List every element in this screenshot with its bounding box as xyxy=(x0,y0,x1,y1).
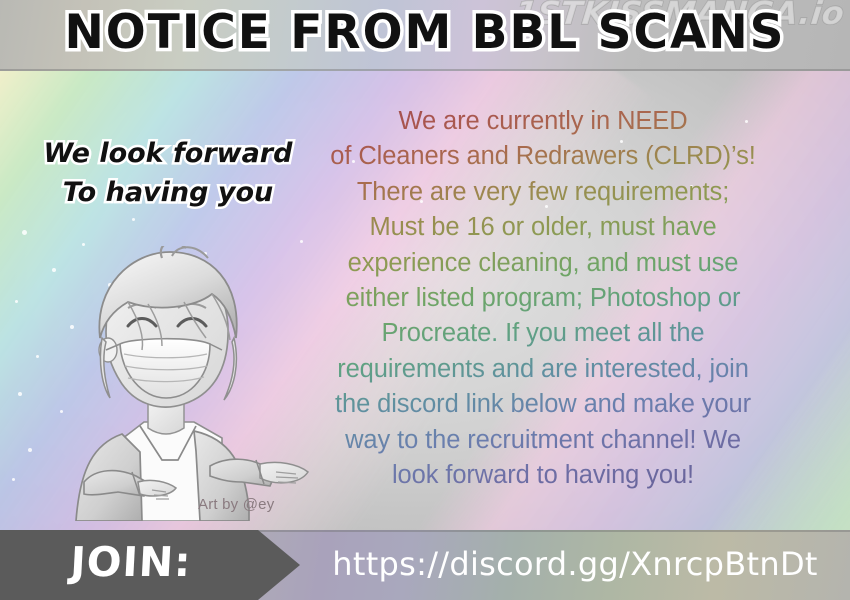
emphasized-term: Must be xyxy=(369,213,459,241)
notice-line: Procreate. If you meet all the xyxy=(382,319,705,347)
notice-line: way to the recruitment channel! We xyxy=(345,426,741,454)
discord-invite-link[interactable]: https://discord.gg/XnrcpBtnDt xyxy=(300,545,850,583)
join-label: JOIN: xyxy=(0,538,263,586)
footer-banner: JOIN: https://discord.gg/XnrcpBtnDt xyxy=(0,530,850,600)
notice-line: either listed program; Photoshop or xyxy=(346,284,741,312)
notice-body: We are currently in NEED of Cleaners and… xyxy=(308,104,778,493)
notice-line: the discord link below and make your xyxy=(335,390,751,418)
left-headline-line-1: We look forward xyxy=(34,134,302,173)
header-banner: 1STKISSMANGA.io NOTICE FROM BBL SCANS xyxy=(0,0,850,71)
masked-character-illustration xyxy=(44,246,314,521)
notice-page: 1STKISSMANGA.io NOTICE FROM BBL SCANS We… xyxy=(0,0,850,600)
emphasized-term: NEED xyxy=(617,107,687,135)
left-headline-line-2: To having you xyxy=(34,173,302,212)
left-headline: We look forward To having you xyxy=(34,134,302,212)
header-divider xyxy=(0,69,850,71)
notice-line: of Cleaners and Redrawers (CLRD)’s! xyxy=(330,142,755,170)
art-credit: Art by @ey xyxy=(198,496,274,513)
notice-line: We are currently in NEED xyxy=(398,107,687,135)
notice-line: There are very few requirements; xyxy=(357,178,729,206)
page-title: NOTICE FROM BBL SCANS xyxy=(0,5,850,60)
notice-line: look forward to having you! xyxy=(392,461,694,489)
notice-line: requirements and are interested, join xyxy=(337,355,749,383)
notice-line: Must be 16 or older, must have xyxy=(369,213,716,241)
notice-line: experience cleaning, and must use xyxy=(348,249,739,277)
